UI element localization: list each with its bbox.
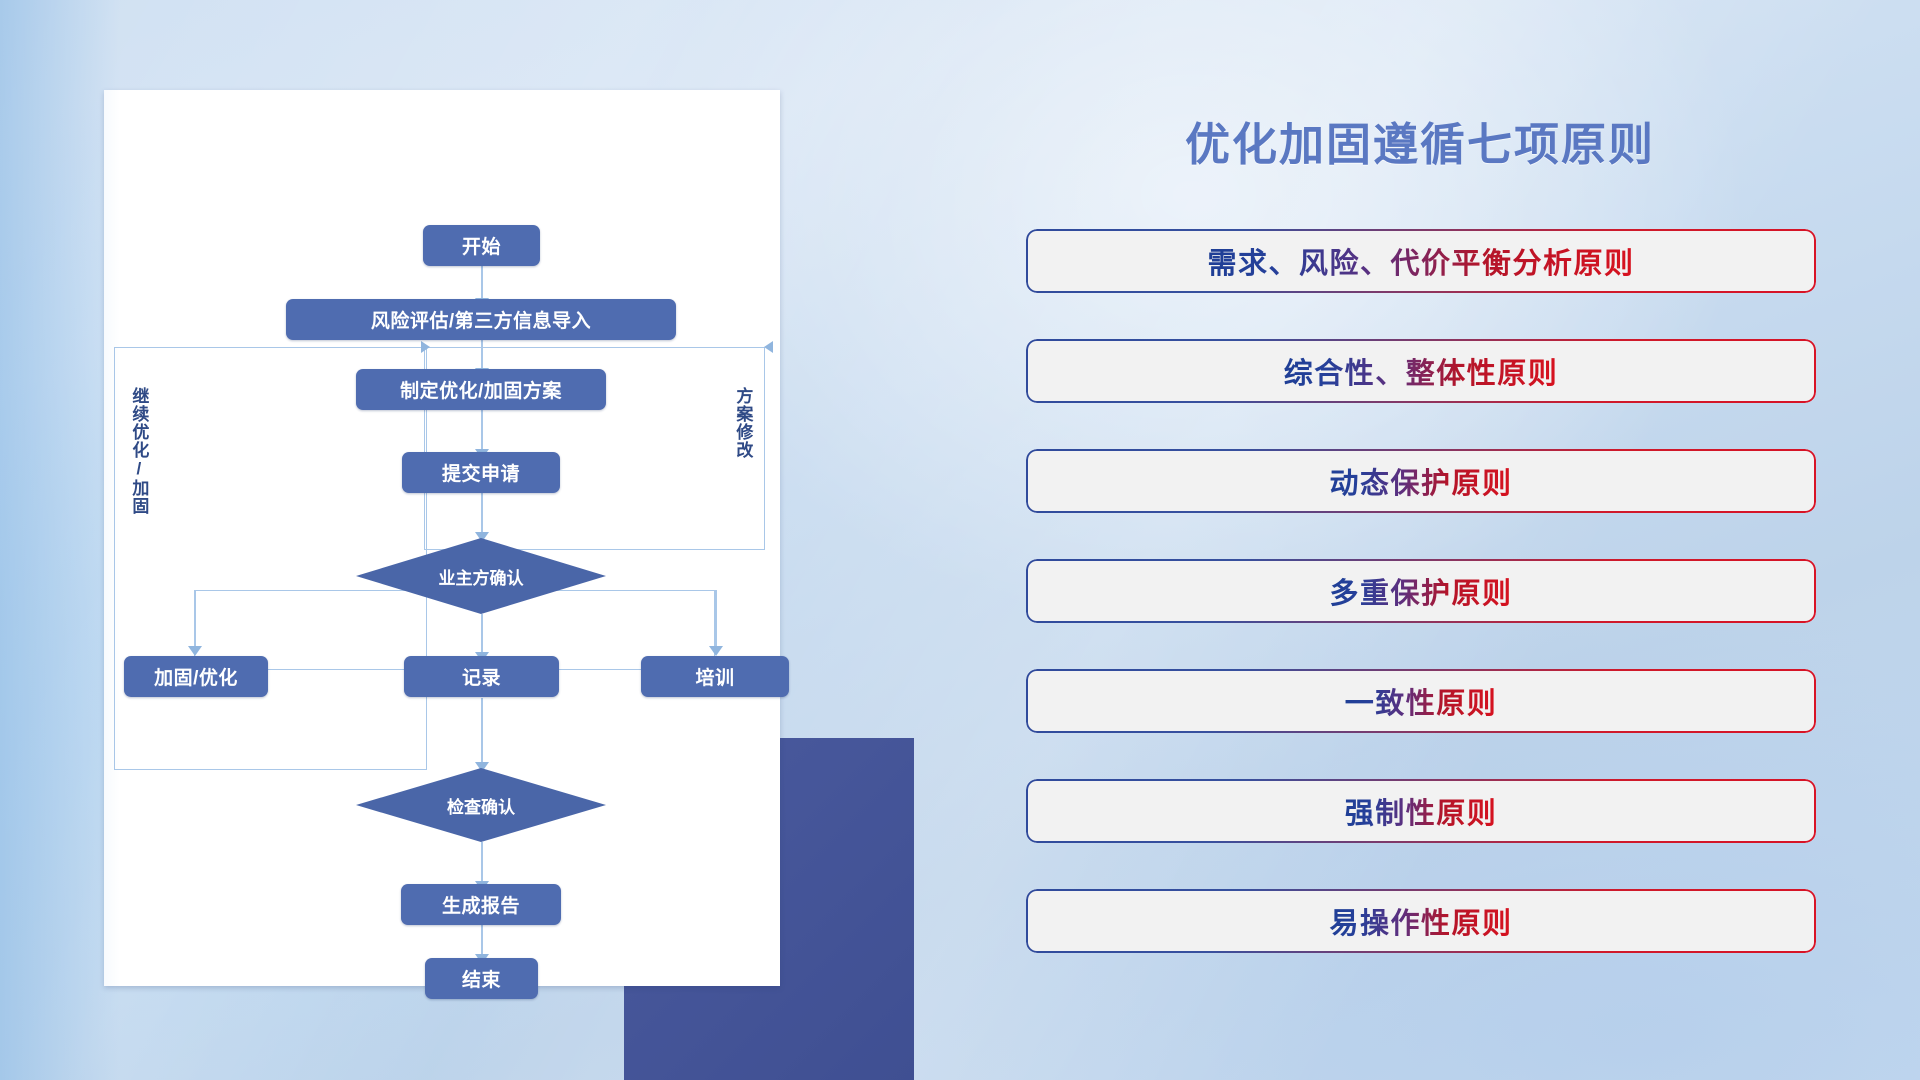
principle-label: 动态保护原则: [1329, 460, 1512, 502]
node-label: 开始: [462, 232, 501, 259]
principle-label: 易操作性原则: [1329, 900, 1512, 942]
arrowhead-continue-into-plan: [421, 341, 430, 353]
list-item[interactable]: 动态保护原则: [1026, 449, 1816, 513]
edge-bus-reinforce: [194, 590, 196, 652]
edge-record-check: [481, 698, 483, 768]
node-label: 提交申请: [442, 459, 520, 486]
list-item[interactable]: 需求、风险、代价平衡分析原则: [1026, 229, 1816, 293]
node-label: 培训: [695, 663, 734, 690]
node-training[interactable]: 培训: [641, 656, 789, 697]
edge-bus-train: [715, 590, 717, 652]
list-item[interactable]: 一致性原则: [1026, 669, 1816, 733]
arrowhead-bus-train: [709, 646, 723, 656]
list-item[interactable]: 易操作性原则: [1026, 889, 1816, 953]
edge-label-plan-revision: 方案修改: [734, 387, 751, 507]
node-label: 加固/优化: [154, 663, 238, 690]
principle-label: 强制性原则: [1345, 790, 1498, 832]
flowchart-container: 开始 风险评估/第三方信息导入 制定优化/加固方案 提交申请 业主方确认 加固/…: [104, 90, 804, 990]
node-plan[interactable]: 制定优化/加固方案: [356, 369, 606, 410]
principle-label: 多重保护原则: [1329, 570, 1512, 612]
list-item[interactable]: 综合性、整体性原则: [1026, 339, 1816, 403]
principle-label: 综合性、整体性原则: [1284, 350, 1559, 392]
arrowhead-bus-reinforce: [188, 646, 202, 656]
node-end[interactable]: 结束: [425, 958, 538, 999]
node-generate-report[interactable]: 生成报告: [401, 884, 561, 925]
node-owner-confirm[interactable]: 业主方确认: [356, 538, 606, 614]
list-item[interactable]: 强制性原则: [1026, 779, 1816, 843]
node-start[interactable]: 开始: [423, 225, 540, 266]
node-label: 结束: [462, 965, 501, 992]
node-record[interactable]: 记录: [404, 656, 559, 697]
node-label: 检查确认: [447, 793, 515, 818]
node-risk-assessment[interactable]: 风险评估/第三方信息导入: [286, 299, 676, 340]
principles-list: 需求、风险、代价平衡分析原则 综合性、整体性原则 动态保护原则 多重保护原则 一…: [1026, 229, 1816, 999]
principle-label: 一致性原则: [1345, 680, 1498, 722]
node-label: 业主方确认: [439, 564, 524, 589]
edge-label-continue-optimize: 继续优化/加固: [130, 387, 147, 557]
node-check-confirm[interactable]: 检查确认: [356, 768, 606, 842]
principle-label: 需求、风险、代价平衡分析原则: [1207, 240, 1634, 282]
list-item[interactable]: 多重保护原则: [1026, 559, 1816, 623]
node-reinforce-optimize[interactable]: 加固/优化: [124, 656, 268, 697]
node-label: 制定优化/加固方案: [400, 376, 562, 403]
node-label: 记录: [462, 663, 501, 690]
arrowhead-revise-into-plan: [764, 341, 773, 353]
node-submit-application[interactable]: 提交申请: [402, 452, 560, 493]
slide-canvas: 开始 风险评估/第三方信息导入 制定优化/加固方案 提交申请 业主方确认 加固/…: [0, 0, 1920, 1080]
node-label: 风险评估/第三方信息导入: [371, 306, 591, 333]
node-label: 生成报告: [442, 891, 520, 918]
page-title: 优化加固遵循七项原则: [1020, 108, 1820, 173]
flowchart-card: 开始 风险评估/第三方信息导入 制定优化/加固方案 提交申请 业主方确认 加固/…: [104, 90, 780, 986]
